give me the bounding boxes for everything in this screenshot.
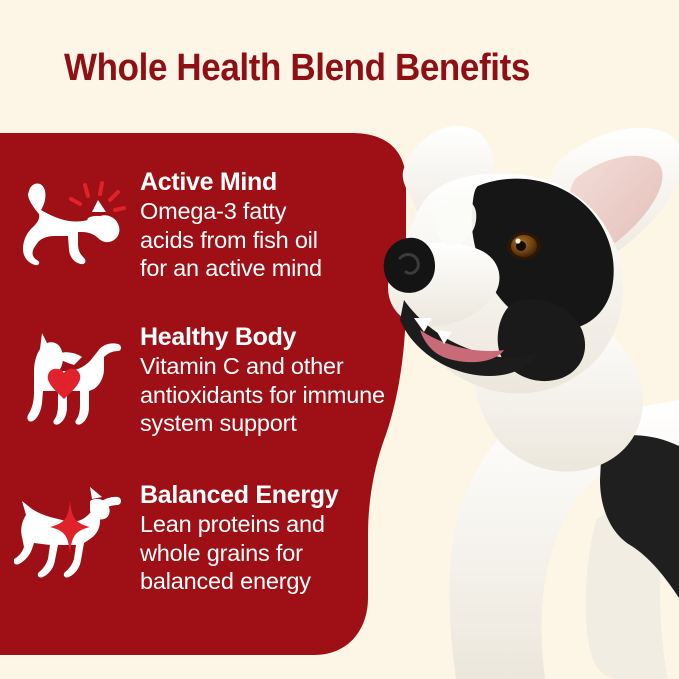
dog-standing-heart-icon bbox=[14, 329, 126, 425]
benefit-description: Lean proteins and whole grains for balan… bbox=[140, 510, 434, 596]
infographic-root: Whole Health Blend Benefits bbox=[0, 0, 679, 679]
page-title: Whole Health Blend Benefits bbox=[64, 48, 579, 90]
benefit-icon-slot bbox=[0, 168, 140, 266]
benefit-text-slot: Healthy Body Vitamin C and other antioxi… bbox=[140, 323, 440, 438]
benefit-heading: Balanced Energy bbox=[140, 481, 434, 509]
benefit-heading: Active Mind bbox=[140, 168, 434, 196]
benefit-description-line: Vitamin C and other bbox=[140, 352, 434, 381]
benefit-description-line: acids from fish oil bbox=[140, 226, 434, 255]
benefit-icon-slot bbox=[0, 481, 140, 579]
benefit-description-line: Omega-3 fatty bbox=[140, 197, 434, 226]
benefit-description-line: Lean proteins and bbox=[140, 510, 434, 539]
dog-playbow-spark-icon bbox=[14, 174, 126, 266]
benefit-description: Omega-3 fatty acids from fish oil for an… bbox=[140, 197, 434, 283]
benefit-text-slot: Active Mind Omega-3 fatty acids from fis… bbox=[140, 168, 440, 283]
benefit-description-line: antioxidants for immune bbox=[140, 381, 434, 410]
benefit-description-line: whole grains for bbox=[140, 539, 434, 568]
benefit-text-slot: Balanced Energy Lean proteins and whole … bbox=[140, 481, 440, 596]
benefit-description-line: system support bbox=[140, 409, 434, 438]
dog-running-star-icon bbox=[14, 487, 126, 579]
benefits-list: Active Mind Omega-3 fatty acids from fis… bbox=[0, 133, 440, 655]
benefit-item-balanced-energy: Balanced Energy Lean proteins and whole … bbox=[0, 481, 440, 596]
benefit-icon-slot bbox=[0, 323, 140, 425]
benefit-description-line: for an active mind bbox=[140, 254, 434, 283]
benefit-heading: Healthy Body bbox=[140, 323, 434, 351]
benefit-description: Vitamin C and other antioxidants for imm… bbox=[140, 352, 434, 438]
benefit-description-line: balanced energy bbox=[140, 567, 434, 596]
benefit-item-active-mind: Active Mind Omega-3 fatty acids from fis… bbox=[0, 168, 440, 283]
benefit-item-healthy-body: Healthy Body Vitamin C and other antioxi… bbox=[0, 323, 440, 438]
